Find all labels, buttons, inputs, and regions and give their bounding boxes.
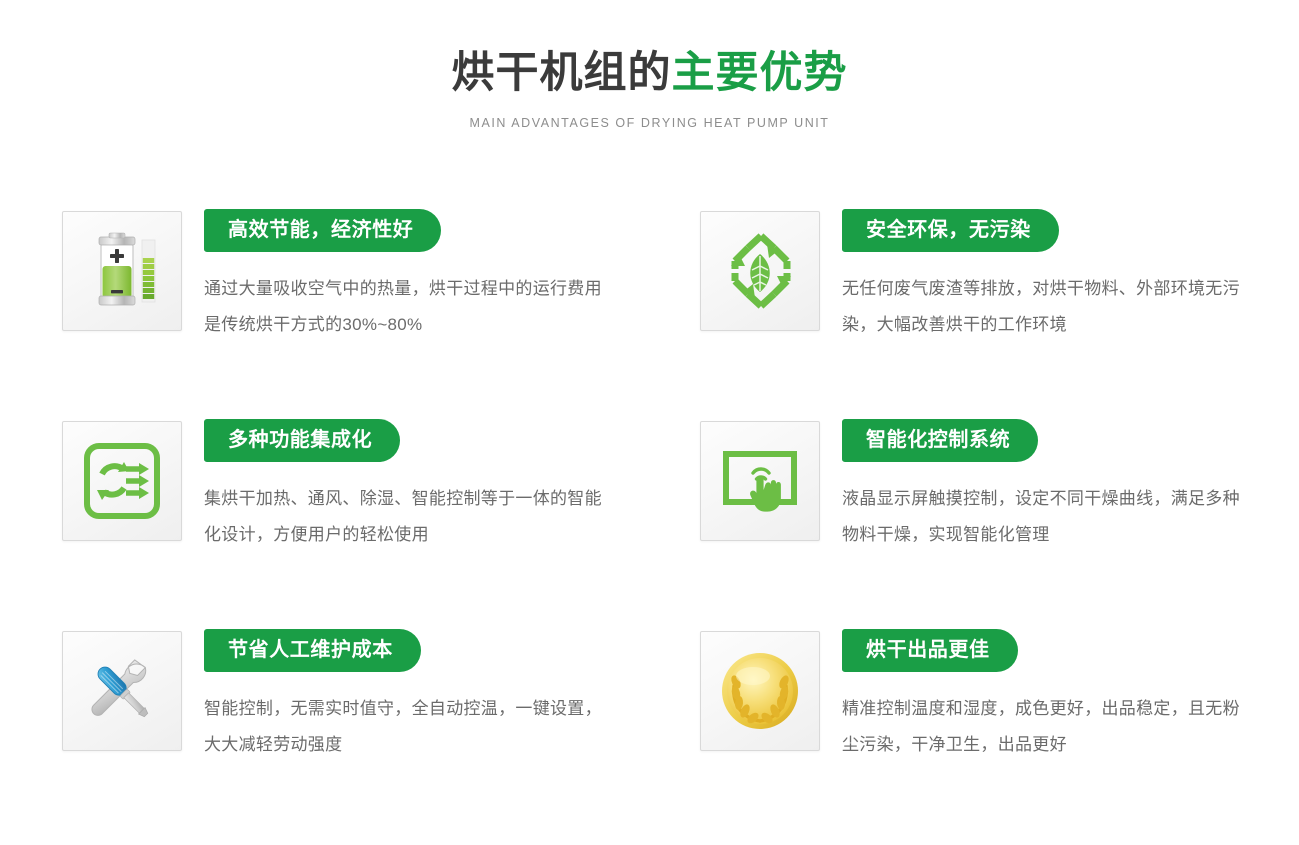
gold-medal-icon-tile (700, 631, 820, 751)
feature-item: 安全环保，无污染 无任何废气废渣等排放，对烘干物料、外部环境无污染，大幅改善烘干… (700, 200, 1299, 410)
feature-item: 智能化控制系统 液晶显示屏触摸控制，设定不同干燥曲线，满足多种物料干燥，实现智能… (700, 410, 1299, 620)
feature-body: 安全环保，无污染 无任何废气废渣等排放，对烘干物料、外部环境无污染，大幅改善烘干… (842, 200, 1242, 343)
feature-item: 多种功能集成化 集烘干加热、通风、除湿、智能控制等于一体的智能化设计，方便用户的… (62, 410, 692, 620)
multi-function-integration-icon (79, 438, 165, 524)
page-title-dark: 烘干机组的 (452, 49, 672, 97)
feature-badge: 节省人工维护成本 (204, 629, 421, 672)
feature-body: 节省人工维护成本 智能控制，无需实时值守，全自动控温，一键设置，大大减轻劳动强度 (204, 620, 604, 763)
feature-description: 智能控制，无需实时值守，全自动控温，一键设置，大大减轻劳动强度 (204, 691, 604, 763)
gold-medal-icon (717, 648, 803, 734)
feature-body: 高效节能，经济性好 通过大量吸收空气中的热量，烘干过程中的运行费用是传统烘干方式… (204, 200, 604, 343)
feature-description: 精准控制温度和湿度，成色更好，出品稳定，且无粉尘污染，干净卫生，出品更好 (842, 691, 1242, 763)
eco-leaf-recycle-icon-tile (700, 211, 820, 331)
feature-description: 通过大量吸收空气中的热量，烘干过程中的运行费用是传统烘干方式的30%~80% (204, 271, 604, 343)
feature-item: 高效节能，经济性好 通过大量吸收空气中的热量，烘干过程中的运行费用是传统烘干方式… (62, 200, 692, 410)
feature-badge: 高效节能，经济性好 (204, 209, 441, 252)
feature-badge: 烘干出品更佳 (842, 629, 1018, 672)
feature-description: 集烘干加热、通风、除湿、智能控制等于一体的智能化设计，方便用户的轻松使用 (204, 481, 604, 553)
wrench-screwdriver-icon (79, 648, 165, 734)
page-header: 烘干机组的主要优势 MAIN ADVANTAGES OF DRYING HEAT… (0, 0, 1299, 130)
feature-description: 无任何废气废渣等排放，对烘干物料、外部环境无污染，大幅改善烘干的工作环境 (842, 271, 1242, 343)
feature-badge: 多种功能集成化 (204, 419, 400, 462)
eco-leaf-recycle-icon (717, 228, 803, 314)
feature-body: 智能化控制系统 液晶显示屏触摸控制，设定不同干燥曲线，满足多种物料干燥，实现智能… (842, 410, 1242, 553)
page-title: 烘干机组的主要优势 (0, 48, 1299, 99)
wrench-screwdriver-icon-tile (62, 631, 182, 751)
touch-screen-icon (717, 438, 803, 524)
feature-badge: 安全环保，无污染 (842, 209, 1059, 252)
features-grid: 高效节能，经济性好 通过大量吸收空气中的热量，烘干过程中的运行费用是传统烘干方式… (0, 200, 1299, 830)
touch-screen-icon-tile (700, 421, 820, 541)
feature-body: 烘干出品更佳 精准控制温度和湿度，成色更好，出品稳定，且无粉尘污染，干净卫生，出… (842, 620, 1242, 763)
multi-function-integration-icon-tile (62, 421, 182, 541)
feature-item: 烘干出品更佳 精准控制温度和湿度，成色更好，出品稳定，且无粉尘污染，干净卫生，出… (700, 620, 1299, 830)
page-title-accent: 主要优势 (672, 49, 848, 97)
battery-icon-tile (62, 211, 182, 331)
feature-badge: 智能化控制系统 (842, 419, 1038, 462)
page-subtitle: MAIN ADVANTAGES OF DRYING HEAT PUMP UNIT (0, 116, 1299, 130)
feature-description: 液晶显示屏触摸控制，设定不同干燥曲线，满足多种物料干燥，实现智能化管理 (842, 481, 1242, 553)
feature-body: 多种功能集成化 集烘干加热、通风、除湿、智能控制等于一体的智能化设计，方便用户的… (204, 410, 604, 553)
battery-icon (79, 228, 165, 314)
feature-item: 节省人工维护成本 智能控制，无需实时值守，全自动控温，一键设置，大大减轻劳动强度 (62, 620, 692, 830)
